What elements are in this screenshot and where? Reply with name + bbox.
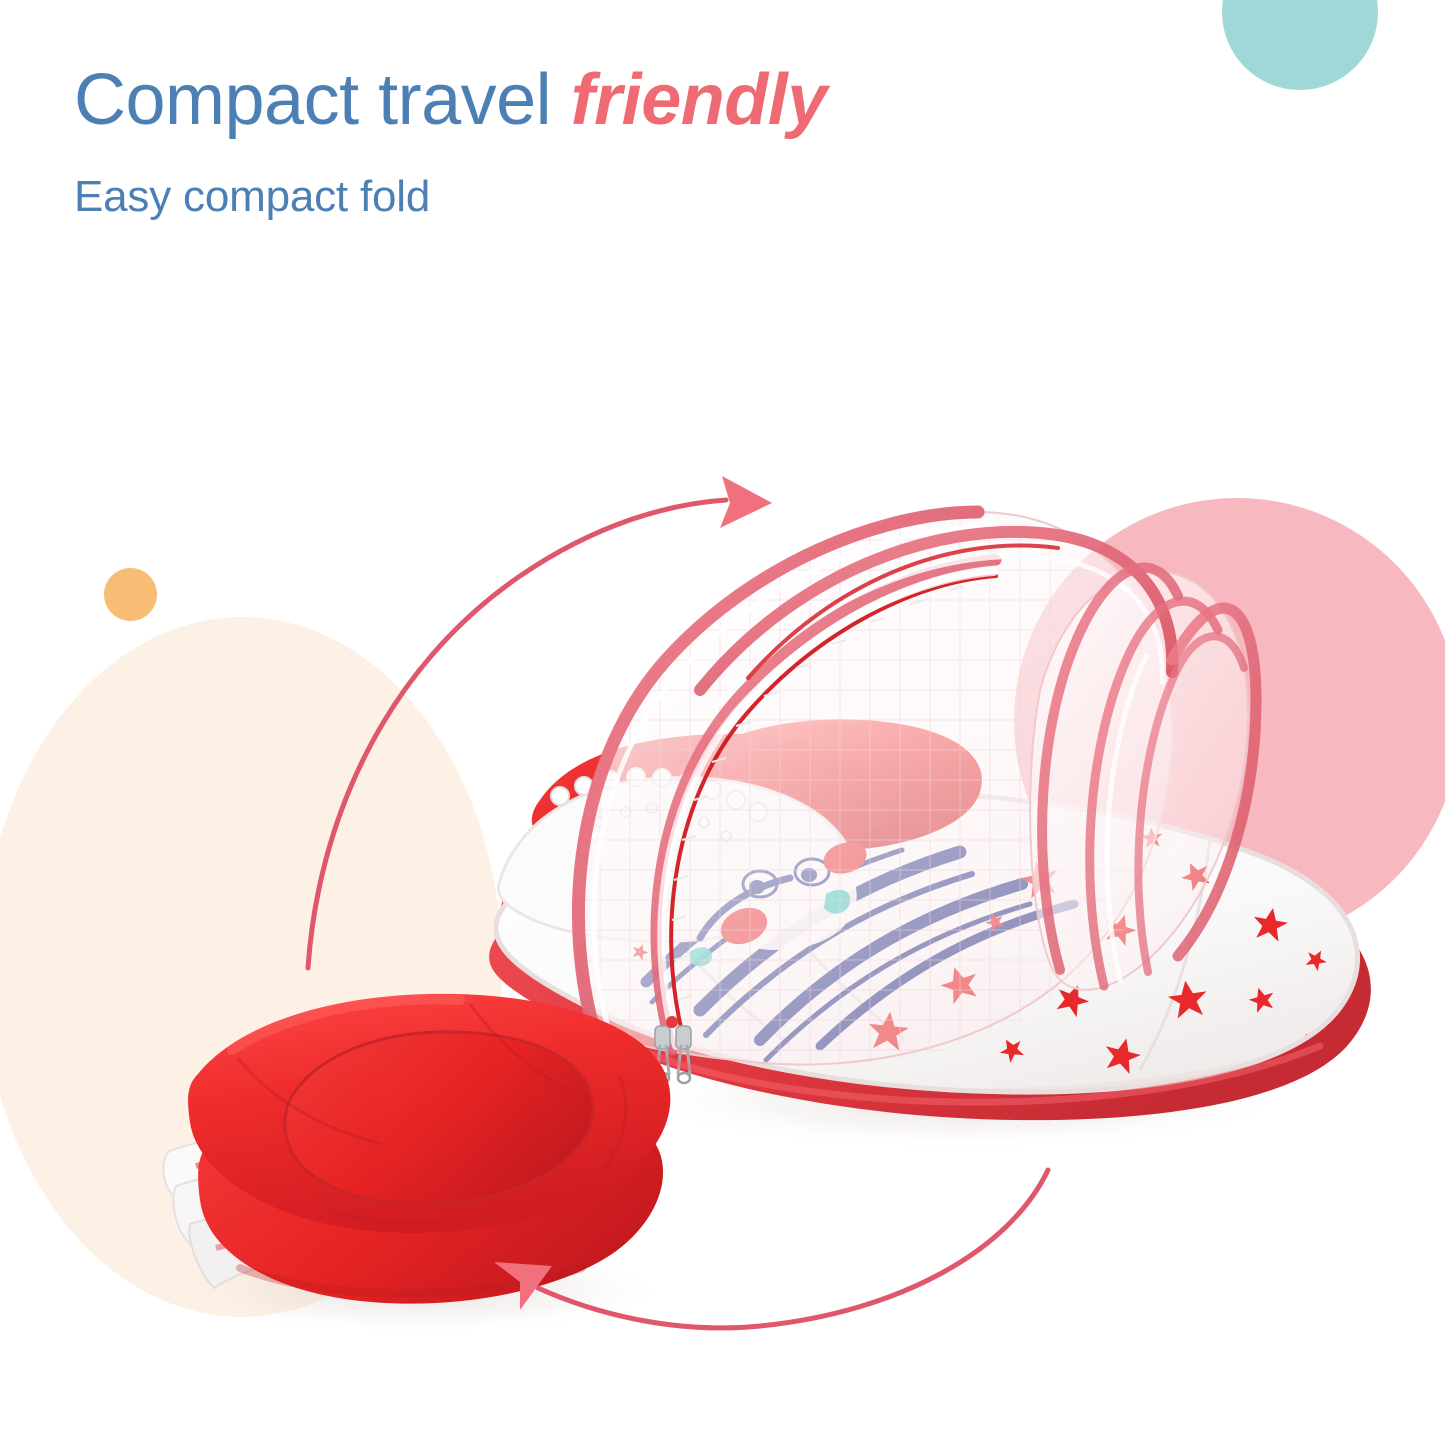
title-accent-text: friendly	[571, 60, 827, 140]
marketing-banner: Compact travel friendly Easy compact fol…	[0, 0, 1445, 1445]
page-title: Compact travel friendly	[74, 64, 1074, 136]
page-subtitle: Easy compact fold	[74, 172, 1074, 222]
title-lead-text: Compact travel	[74, 60, 571, 140]
open-bedding-set	[489, 510, 1371, 1120]
headings-block: Compact travel friendly Easy compact fol…	[74, 64, 1074, 222]
folded-bedding-set	[163, 994, 670, 1304]
